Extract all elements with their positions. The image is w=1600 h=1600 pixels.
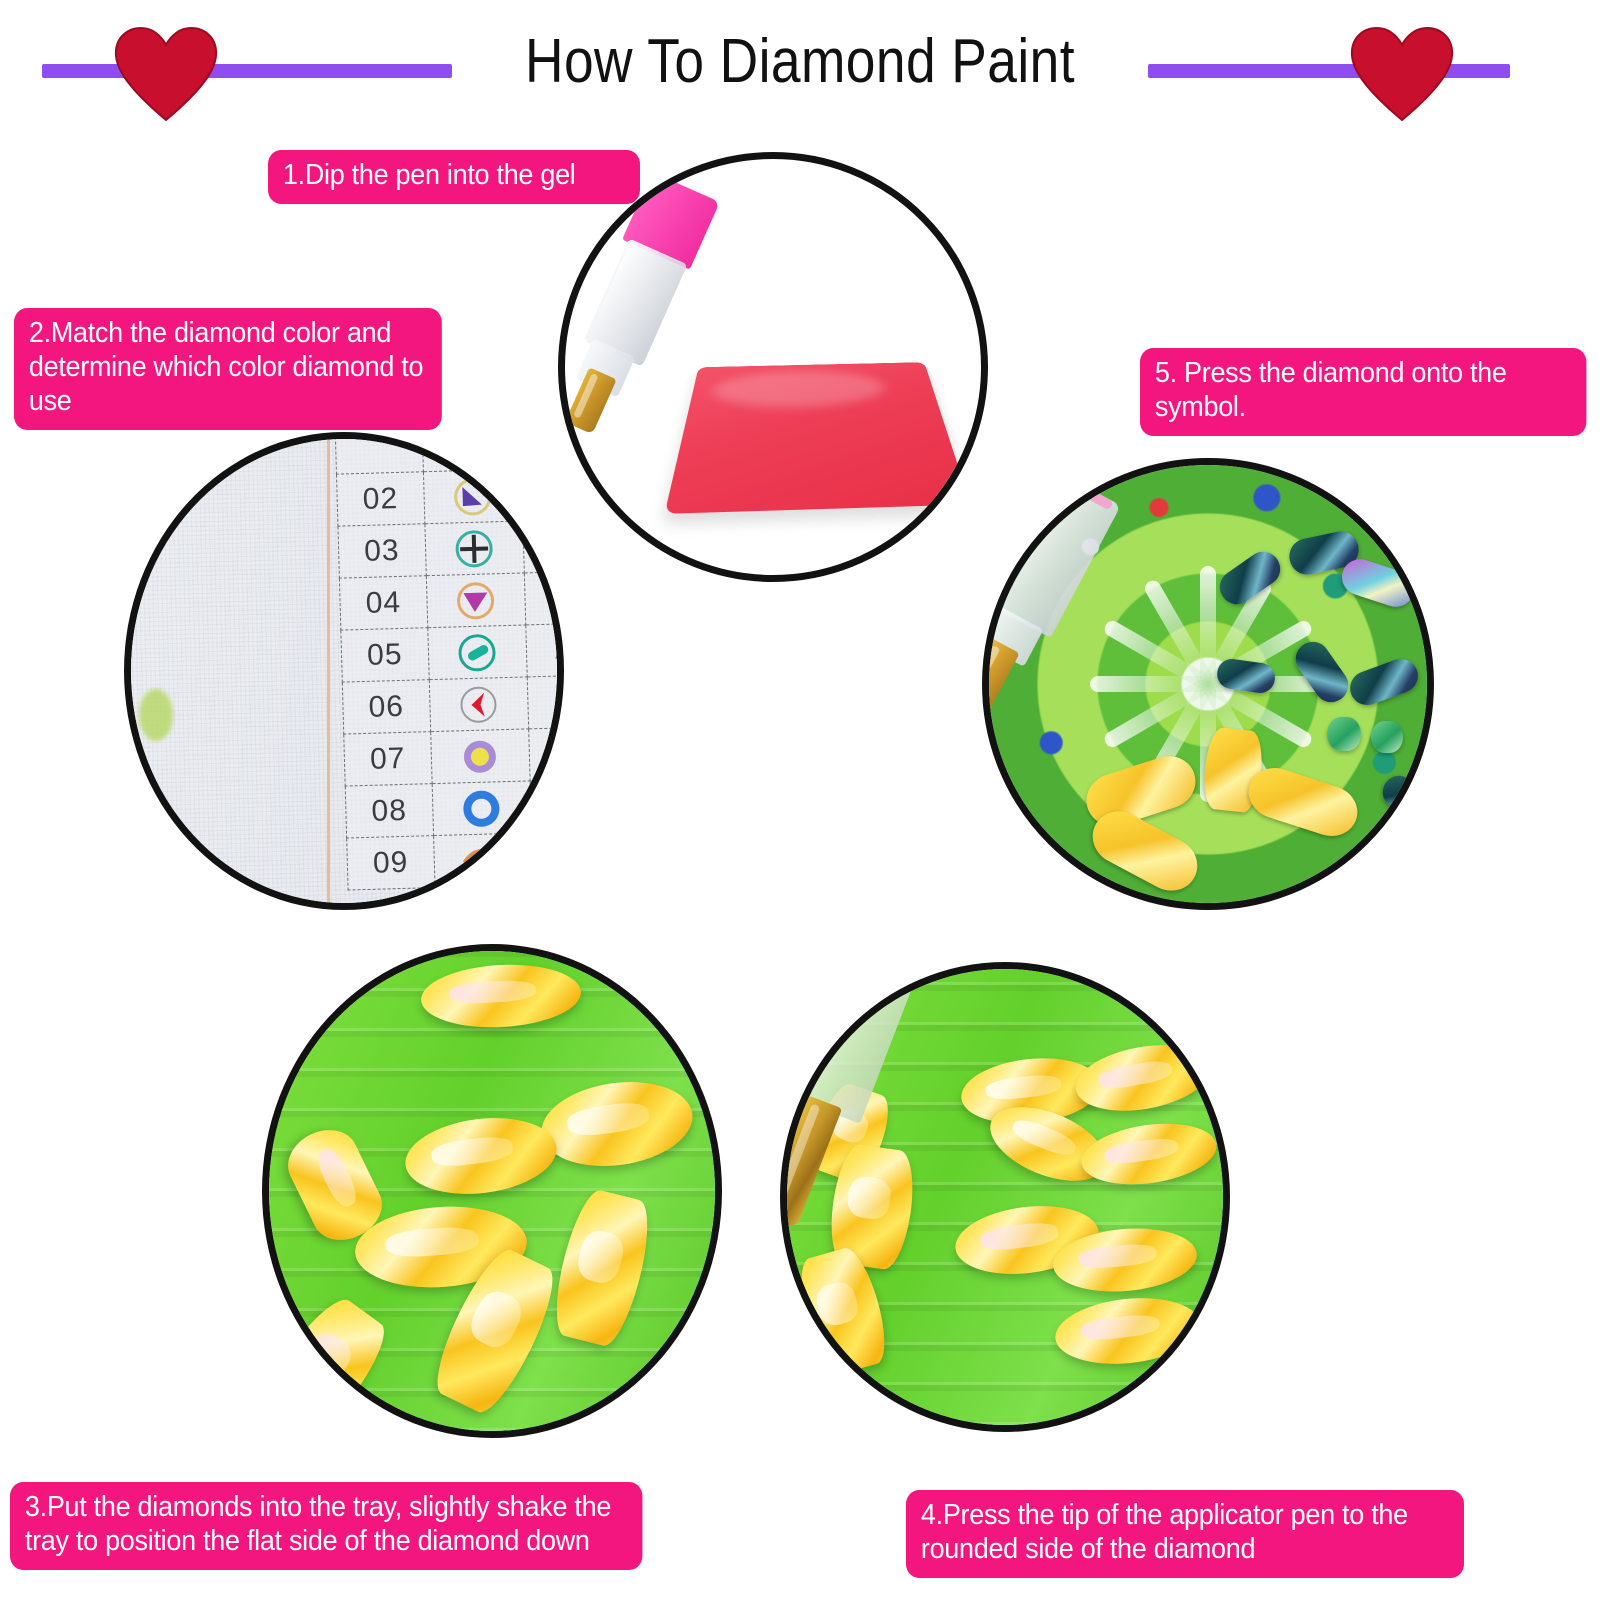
double-dot-circle-symbol-icon xyxy=(422,439,522,472)
magenta-triangle-symbol-icon xyxy=(426,573,526,628)
filled-triangle-symbol-icon xyxy=(423,469,523,524)
pen-picking-diamond-photo xyxy=(780,962,1230,1432)
pen-dipping-in-gel-photo xyxy=(558,152,988,582)
step-2-label: 2.Match the diamond color and determine … xyxy=(14,308,442,430)
row-number: 02 xyxy=(336,472,424,526)
pen-tip xyxy=(787,1096,842,1228)
paint-mark xyxy=(145,819,175,849)
infographic-page: How To Diamond Paint 1.Dip the pen into … xyxy=(0,0,1600,1600)
row-number: 04 xyxy=(339,576,427,630)
step-5-label: 5. Press the diamond onto the symbol. xyxy=(1140,348,1586,436)
color-code-table: 028 02 093 xyxy=(335,439,557,891)
diagonal-bar-symbol-icon xyxy=(427,625,527,680)
row-code: YX083 xyxy=(529,725,557,781)
row-code: 093 xyxy=(522,465,557,521)
color-code-table-body: 028 02 093 xyxy=(335,439,557,890)
table-row: 09 YX125 xyxy=(347,829,557,890)
row-number: 07 xyxy=(344,732,432,786)
table-row: 04 195 xyxy=(339,569,557,630)
page-title: How To Diamond Paint xyxy=(112,26,1488,97)
table-row: 07 YX083 xyxy=(344,725,557,786)
placed-diamond xyxy=(1371,721,1403,753)
row-code: YX106 xyxy=(530,777,557,833)
pen-tip xyxy=(565,367,617,434)
diamond-tray-photo xyxy=(262,944,722,1438)
leaf-eye-symbol-icon xyxy=(433,833,533,888)
row-code: YX125 xyxy=(532,829,557,885)
paint-mark xyxy=(139,689,173,741)
row-number: 05 xyxy=(341,628,429,682)
page-header: How To Diamond Paint xyxy=(0,0,1600,130)
row-number xyxy=(335,439,423,474)
step-1-label: 1.Dip the pen into the gel xyxy=(268,150,640,204)
red-gel-pad xyxy=(665,362,971,514)
row-number: 06 xyxy=(342,680,430,734)
row-number: 03 xyxy=(338,524,426,578)
table-row: 03 111 xyxy=(338,517,557,578)
row-number: 09 xyxy=(347,836,435,890)
row-number: 08 xyxy=(345,784,433,838)
color-chart-photo: 028 02 093 xyxy=(124,432,564,910)
mandala-placement-photo xyxy=(982,458,1434,910)
table-row: 05 AB004 xyxy=(341,621,557,682)
row-code: 111 xyxy=(523,517,557,573)
placed-diamond xyxy=(1327,717,1361,751)
table-row: 06 YX058 xyxy=(342,673,557,734)
step-4-label: 4.Press the tip of the applicator pen to… xyxy=(906,1490,1464,1578)
step-3-label: 3.Put the diamonds into the tray, slight… xyxy=(10,1482,642,1570)
row-code: AB004 xyxy=(526,621,557,677)
row-code: 195 xyxy=(525,569,557,625)
plus-cross-symbol-icon xyxy=(424,521,524,576)
blue-ring-symbol-icon xyxy=(432,781,532,836)
table-row: 02 093 xyxy=(336,465,557,526)
canvas-guide-line xyxy=(327,439,330,903)
table-row: 08 YX106 xyxy=(345,777,557,838)
row-code: 028 xyxy=(520,439,557,469)
dotted-donut-symbol-icon xyxy=(430,729,530,784)
row-code: YX058 xyxy=(528,673,557,729)
chevron-left-symbol-icon xyxy=(429,677,529,732)
pen-tip xyxy=(989,638,1020,725)
